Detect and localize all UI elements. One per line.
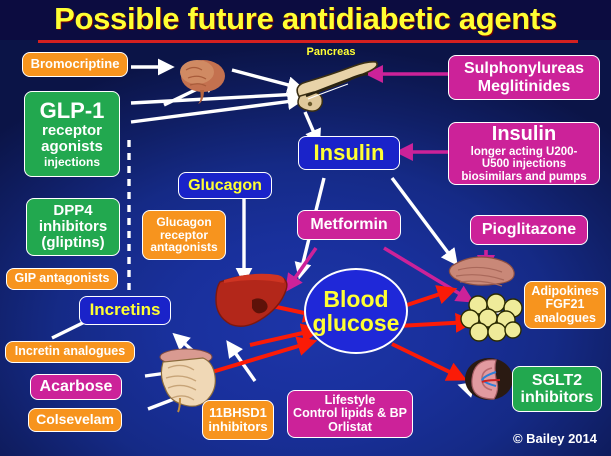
blood-glucose-line2: glucose: [313, 311, 400, 335]
box-insulin-right-line3: U500 injections: [482, 158, 566, 170]
box-incretins-label: Incretins: [90, 301, 161, 319]
brain-illustration: [180, 60, 225, 104]
box-lifestyle-line3: Orlistat: [328, 421, 372, 435]
box-insulin-center-label: Insulin: [314, 141, 385, 165]
box-bromocriptine-label: Bromocriptine: [31, 57, 120, 71]
pancreas-illustration: [297, 62, 377, 111]
fat-cells-illustration: [461, 294, 522, 341]
box-gra-line3: antagonists: [150, 241, 217, 254]
box-sulphonylureas-meglitinides[interactable]: Sulphonylureas Meglitinides: [448, 55, 600, 100]
box-insulin-right[interactable]: Insulin longer acting U200- U500 injecti…: [448, 122, 600, 185]
box-pioglitazone[interactable]: Pioglitazone: [470, 215, 588, 245]
box-adipokines-fgf21[interactable]: Adipokines FGF21 analogues: [524, 281, 606, 329]
box-glp1-line1: GLP-1: [40, 99, 105, 123]
blood-glucose-line1: Blood: [323, 287, 388, 311]
box-acarbose[interactable]: Acarbose: [30, 374, 122, 400]
box-bromocriptine[interactable]: Bromocriptine: [22, 52, 128, 77]
muscle-illustration: [449, 257, 514, 286]
box-gip-antagonists[interactable]: GIP antagonists: [6, 268, 118, 290]
box-bhsd1-line2: inhibitors: [208, 420, 267, 434]
box-metformin-label: Metformin: [310, 216, 387, 233]
box-sulphonylureas-line1: Sulphonylureas: [464, 60, 584, 77]
box-lifestyle[interactable]: Lifestyle Control lipids & BP Orlistat: [287, 390, 413, 438]
box-lifestyle-line2: Control lipids & BP: [293, 407, 407, 421]
box-bhsd1-line1: 11BHSD1: [209, 406, 267, 420]
box-insulin-right-line4: biosimilars and pumps: [461, 171, 586, 183]
box-gip-antagonists-label: GIP antagonists: [15, 272, 110, 286]
kidney-illustration: [465, 358, 513, 400]
box-dpp4-line1: DPP4: [53, 203, 92, 219]
box-adipokines-line1: Adipokines: [531, 285, 598, 299]
box-sulphonylureas-line2: Meglitinides: [478, 78, 570, 95]
box-acarbose-label: Acarbose: [40, 378, 113, 395]
box-glp1-line2: receptor: [42, 123, 102, 139]
pancreas-label: Pancreas: [296, 46, 366, 58]
box-glp1-line4: injections: [44, 156, 100, 169]
box-glucagon-label: Glucagon: [188, 177, 262, 194]
box-dpp4-line2: inhibitors: [39, 219, 107, 235]
diagram-canvas: Possible future antidiabetic agents: [0, 0, 611, 456]
blood-glucose-hub[interactable]: Blood glucose: [304, 268, 408, 354]
box-insulin-center[interactable]: Insulin: [298, 136, 400, 170]
box-pioglitazone-label: Pioglitazone: [482, 221, 576, 238]
liver-illustration: [216, 274, 287, 326]
box-dpp4-line3: (gliptins): [41, 235, 104, 251]
copyright-notice: © Bailey 2014: [513, 431, 597, 446]
box-incretin-analogues[interactable]: Incretin analogues: [5, 341, 135, 363]
box-adipokines-line2: FGF21: [546, 298, 585, 312]
box-sglt2-line1: SGLT2: [532, 372, 582, 389]
box-dpp4-inhibitors[interactable]: DPP4 inhibitors (gliptins): [26, 198, 120, 256]
box-incretin-analogues-label: Incretin analogues: [15, 345, 125, 359]
box-sglt2-line2: inhibitors: [521, 389, 594, 406]
box-colsevelam[interactable]: Colsevelam: [28, 408, 122, 432]
box-insulin-right-line1: Insulin: [492, 124, 556, 146]
box-lifestyle-line1: Lifestyle: [325, 394, 376, 408]
box-glp1-receptor-agonists[interactable]: GLP-1 receptor agonists injections: [24, 91, 120, 177]
box-adipokines-line3: analogues: [534, 312, 596, 326]
box-glp1-line3: agonists: [41, 139, 103, 155]
box-sglt2-inhibitors[interactable]: SGLT2 inhibitors: [512, 366, 602, 412]
box-glucagon[interactable]: Glucagon: [178, 172, 272, 199]
box-colsevelam-label: Colsevelam: [36, 412, 114, 427]
box-insulin-right-line2: longer acting U200-: [471, 146, 578, 158]
box-11bhsd1-inhibitors[interactable]: 11BHSD1 inhibitors: [202, 400, 274, 440]
box-incretins[interactable]: Incretins: [79, 296, 171, 325]
box-metformin[interactable]: Metformin: [297, 210, 401, 240]
box-gra-line1: Glucagon: [156, 216, 211, 229]
box-glucagon-receptor-antagonists[interactable]: Glucagon receptor antagonists: [142, 210, 226, 260]
